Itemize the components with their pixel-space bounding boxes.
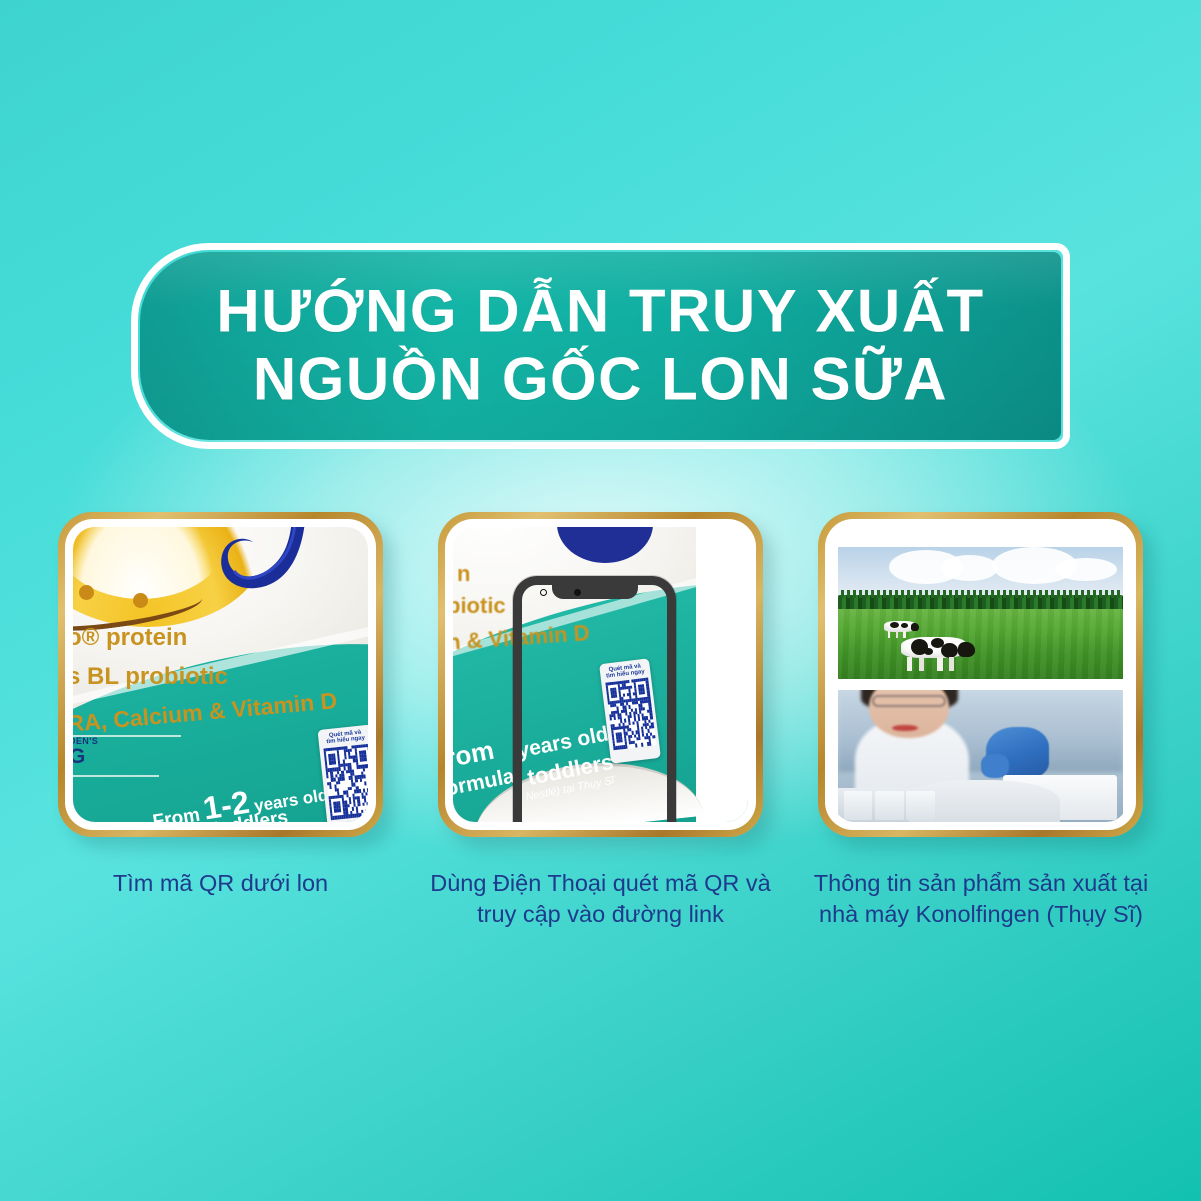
step-card-3[interactable]	[818, 512, 1143, 837]
cow-near	[901, 637, 967, 671]
qr-matrix-2	[605, 677, 656, 750]
can-divider-2	[73, 775, 159, 777]
step-caption-3: Thông tin sản phẩm sản xuất tại nhà máy …	[806, 868, 1156, 931]
phone-scanning-image: n biotic n & Vitamin D rom years old tod…	[453, 527, 748, 822]
test-tube-3	[906, 791, 935, 820]
step-card-2[interactable]: n biotic n & Vitamin D rom years old tod…	[438, 512, 763, 837]
step-card-3-inner	[825, 519, 1136, 830]
can2-text-2: biotic	[453, 593, 506, 619]
test-tube-1	[844, 791, 873, 820]
safety-glasses-icon	[872, 695, 946, 707]
step-caption-1: Tìm mã QR dưới lon	[58, 868, 383, 899]
step-card-2-inner: n biotic n & Vitamin D rom years old tod…	[445, 519, 756, 830]
laboratory-photo	[838, 690, 1123, 822]
test-tube-2	[875, 791, 904, 820]
grass-field	[838, 609, 1123, 679]
can-text-protein: o® protein	[73, 624, 187, 652]
can-text-probiotic: s BL probiotic	[73, 663, 228, 691]
title-banner: HƯỚNG DẪN TRUY XUẤT NGUỒN GỐC LON SỮA	[131, 243, 1070, 449]
nan-blue-swoosh-logo	[196, 527, 316, 619]
step-caption-2: Dùng Điện Thoại quét mã QR và truy cập v…	[428, 868, 773, 931]
steps-row: o® protein s BL probiotic RA, Calcium & …	[0, 512, 1201, 842]
pasture-photo	[838, 547, 1123, 679]
step-card-1[interactable]: o® protein s BL probiotic RA, Calcium & …	[58, 512, 383, 837]
page-title-line-1: HƯỚNG DẪN TRUY XUẤT	[131, 278, 1070, 346]
page-title-line-2: NGUỒN GỐC LON SỮA	[131, 346, 1070, 414]
step-card-1-inner: o® protein s BL probiotic RA, Calcium & …	[65, 519, 376, 830]
qr-code-sticker-1[interactable]: Quét mã và tìm hiểu ngay	[318, 724, 368, 822]
can-brand-mark: DEN'S G	[73, 737, 98, 767]
can2-right-background	[696, 527, 748, 822]
cloud-2	[941, 555, 998, 581]
cow-far	[884, 621, 915, 638]
technician-lips	[892, 725, 918, 732]
page-title: HƯỚNG DẪN TRUY XUẤT NGUỒN GỐC LON SỮA	[131, 278, 1070, 415]
milk-can-closeup-image: o® protein s BL probiotic RA, Calcium & …	[73, 527, 368, 822]
can2-text-1: n	[457, 561, 470, 587]
qr-matrix-1	[323, 743, 368, 819]
origin-photos	[833, 527, 1128, 822]
